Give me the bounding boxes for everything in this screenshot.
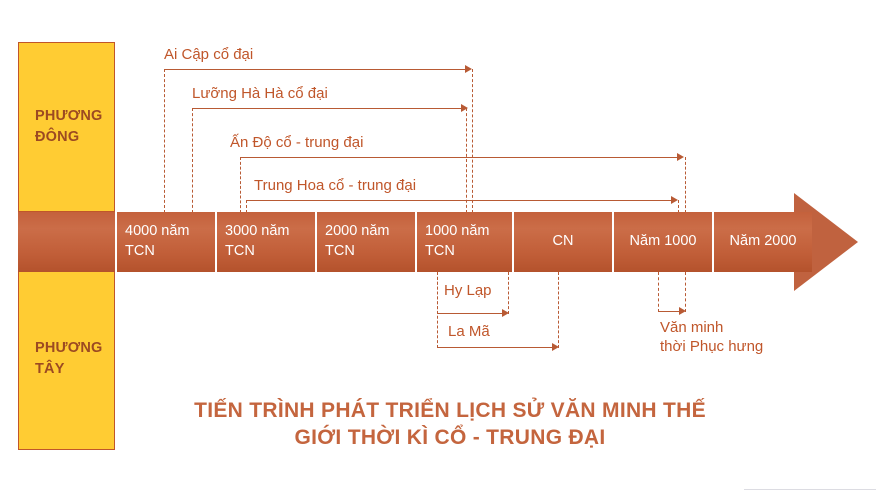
- timeline-segment-1000tcn-line2: TCN: [425, 242, 512, 262]
- era-span-line-la-ma: [437, 347, 555, 348]
- timeline-segment-4000tcn-line1: 4000 năm: [125, 222, 215, 242]
- timeline-segment-nam2000-line1: Năm 2000: [730, 232, 797, 252]
- era-span-line-trung-hoa: [246, 200, 674, 201]
- era-end-line-an-do: [685, 157, 686, 213]
- timeline-segment-cn[interactable]: CN: [512, 212, 612, 272]
- page-title: TIẾN TRÌNH PHÁT TRIỂN LỊCH SỬ VĂN MINH T…: [150, 398, 750, 452]
- era-label-phuc-hung-line2: thời Phục hưng: [660, 338, 763, 355]
- era-label-trung-hoa: Trung Hoa cổ - trung đại: [254, 177, 416, 194]
- region-east-line1: PHƯƠNG: [35, 106, 114, 127]
- era-start-line-la-ma: [437, 272, 438, 348]
- era-start-line-ai-cap: [164, 69, 165, 213]
- region-box-east: PHƯƠNG ĐÔNG: [18, 42, 115, 212]
- timeline-body: 4000 năm TCN 3000 năm TCN 2000 năm TCN 1…: [18, 212, 812, 272]
- era-label-an-do: Ấn Độ cổ - trung đại: [230, 134, 363, 151]
- era-start-line-an-do: [240, 157, 241, 213]
- era-arrow-ai-cap: [465, 65, 472, 73]
- timeline-segment-nam1000-line1: Năm 1000: [630, 232, 697, 252]
- page-title-line2: GIỚI THỜI KÌ CỔ - TRUNG ĐẠI: [150, 425, 750, 452]
- era-span-line-an-do: [240, 157, 680, 158]
- timeline-segment-3000tcn-line2: TCN: [225, 242, 315, 262]
- timeline-segment-2000tcn[interactable]: 2000 năm TCN: [315, 212, 415, 272]
- era-label-phuc-hung-line1: Văn minh: [660, 319, 723, 336]
- era-arrow-phuc-hung: [679, 307, 686, 315]
- era-arrow-hy-lap: [502, 309, 509, 317]
- era-start-line-luong-ha: [192, 108, 193, 213]
- footer-divider: [744, 489, 876, 490]
- region-west-line1: PHƯƠNG: [35, 338, 114, 359]
- era-arrow-la-ma: [552, 343, 559, 351]
- timeline-segment-4000tcn[interactable]: 4000 năm TCN: [115, 212, 215, 272]
- era-arrow-trung-hoa: [671, 196, 678, 204]
- timeline-bar: 4000 năm TCN 3000 năm TCN 2000 năm TCN 1…: [18, 212, 858, 297]
- timeline-segment-4000tcn-line2: TCN: [125, 242, 215, 262]
- region-east-line2: ĐÔNG: [35, 127, 114, 148]
- era-span-line-luong-ha: [192, 108, 463, 109]
- era-arrow-an-do: [677, 153, 684, 161]
- timeline-segment-2000tcn-line1: 2000 năm: [325, 222, 415, 242]
- timeline-segment-3000tcn-line1: 3000 năm: [225, 222, 315, 242]
- era-span-line-ai-cap: [164, 69, 467, 70]
- timeline-segment-1000tcn-line1: 1000 năm: [425, 222, 512, 242]
- era-end-line-la-ma: [558, 272, 559, 348]
- era-span-line-hy-lap: [437, 313, 505, 314]
- era-label-luong-ha: Lưỡng Hà Hà cổ đại: [192, 85, 328, 102]
- era-label-hy-lap: Hy Lạp: [444, 282, 492, 299]
- timeline-segment-nam1000[interactable]: Năm 1000: [612, 212, 712, 272]
- era-end-line-ai-cap: [472, 69, 473, 213]
- era-end-line-hy-lap: [508, 272, 509, 314]
- timeline-diagram: PHƯƠNG ĐÔNG PHƯƠNG TÂY Ai Cập cổ đại Lưỡ…: [0, 0, 876, 495]
- timeline-segment-nam2000[interactable]: Năm 2000: [712, 212, 812, 272]
- era-end-line-luong-ha: [466, 108, 467, 213]
- page-title-line1: TIẾN TRÌNH PHÁT TRIỂN LỊCH SỬ VĂN MINH T…: [150, 398, 750, 425]
- timeline-segment-1000tcn[interactable]: 1000 năm TCN: [415, 212, 512, 272]
- era-end-line-phuc-hung: [685, 272, 686, 312]
- timeline-segment-2000tcn-line2: TCN: [325, 242, 415, 262]
- era-start-line-phuc-hung: [658, 272, 659, 312]
- era-label-ai-cap: Ai Cập cổ đại: [164, 46, 253, 63]
- timeline-segment-3000tcn[interactable]: 3000 năm TCN: [215, 212, 315, 272]
- era-label-la-ma: La Mã: [448, 323, 490, 340]
- region-west-line2: TÂY: [35, 359, 114, 380]
- timeline-segment-cn-line1: CN: [553, 232, 574, 252]
